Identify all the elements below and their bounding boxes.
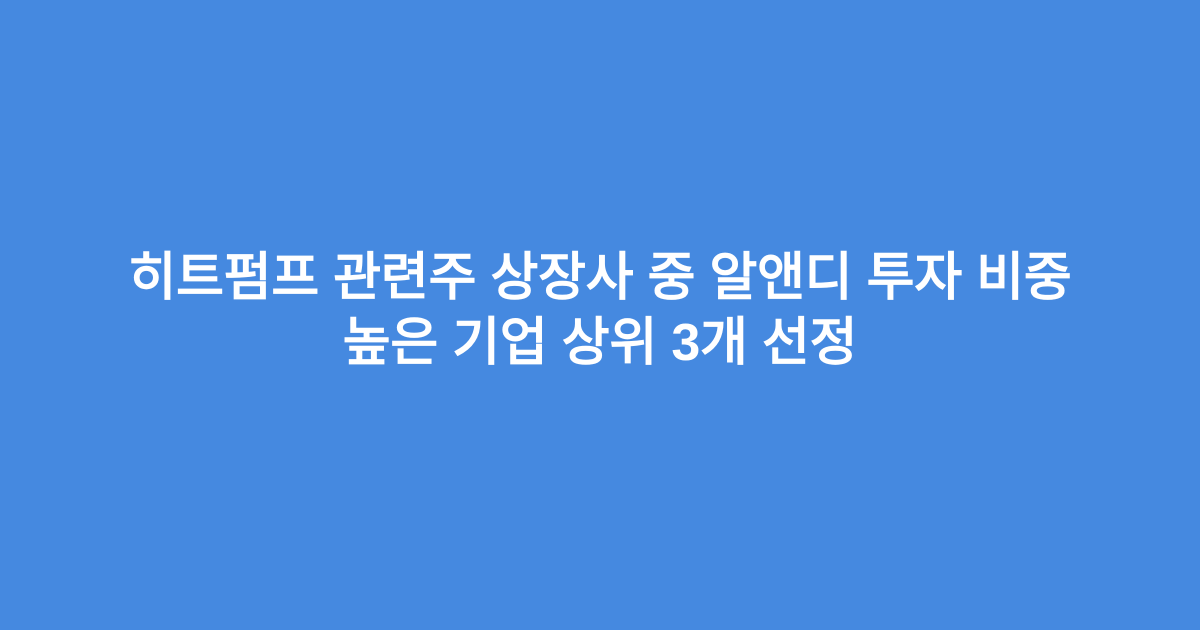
og-card: 히트펌프 관련주 상장사 중 알앤디 투자 비중 높은 기업 상위 3개 선정 <box>0 0 1200 630</box>
page-title: 히트펌프 관련주 상장사 중 알앤디 투자 비중 높은 기업 상위 3개 선정 <box>75 246 1125 376</box>
headline-container: 히트펌프 관련주 상장사 중 알앤디 투자 비중 높은 기업 상위 3개 선정 <box>65 246 1135 376</box>
